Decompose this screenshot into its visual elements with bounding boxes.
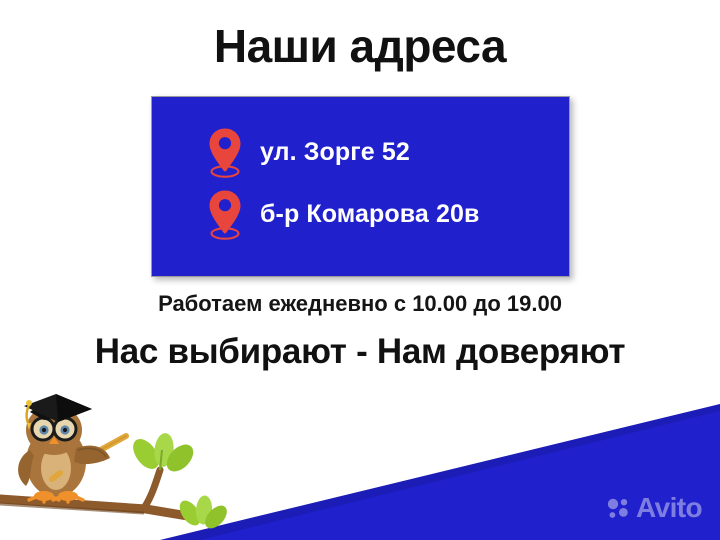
working-hours-label: Работаем ежедневно с 10.00 до 19.00 [0, 291, 720, 317]
address-card: ул. Зорге 52 б-р Комарова 20в [151, 96, 570, 277]
address-label: б-р Комарова 20в [260, 200, 479, 229]
diagonal-band [160, 404, 720, 540]
list-item: б-р Комарова 20в [204, 185, 569, 243]
poster-canvas: Наши адреса ул. Зорге 52 б-р Комар [0, 0, 720, 540]
bottom-illustration [0, 378, 720, 540]
map-pin-icon [204, 188, 246, 240]
owl-graduate-icon [18, 394, 126, 502]
page-title: Наши адреса [0, 22, 720, 70]
map-pin-icon [204, 126, 246, 178]
list-item: ул. Зорге 52 [204, 123, 569, 181]
address-label: ул. Зорге 52 [260, 138, 410, 167]
slogan-label: Нас выбирают - Нам доверяют [0, 332, 720, 372]
